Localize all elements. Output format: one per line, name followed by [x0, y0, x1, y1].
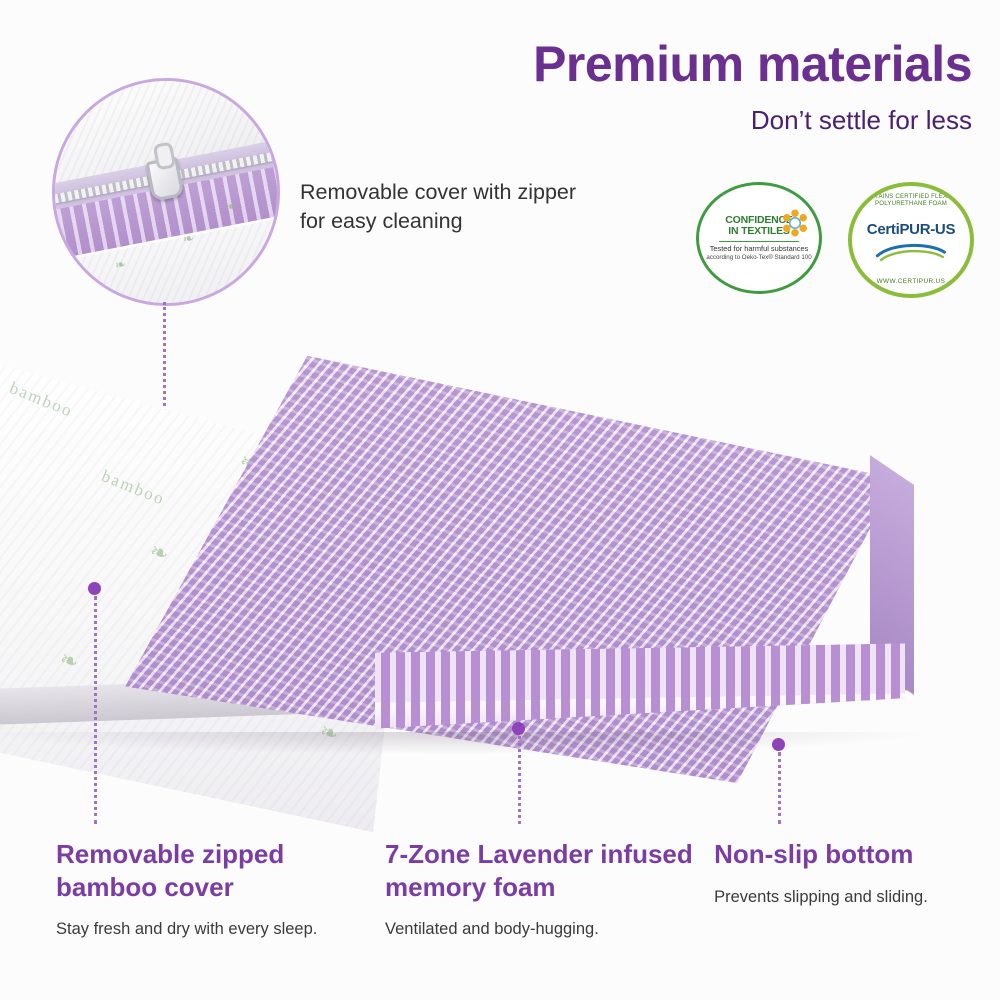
mattress-topper: bamboo bamboo bamboo bamboo ❧ ❧ ❧ ❧: [0, 330, 930, 760]
feature-item-cover: Removable zipped bamboo cover Stay fresh…: [56, 838, 385, 940]
page-subtitle: Don’t settle for less: [332, 105, 972, 136]
feature-title: 7-Zone Lavender infused memory foam: [385, 838, 714, 903]
feature-list: Removable zipped bamboo cover Stay fresh…: [56, 838, 956, 940]
feature-description: Prevents slipping and sliding.: [714, 887, 956, 908]
divider: [719, 241, 799, 242]
certification-badges: CONFIDENCE IN TEXTILES Tested for harmfu…: [696, 182, 974, 298]
certipur-name: CertiPUR-US: [867, 221, 955, 238]
leader-line-cover: [94, 596, 97, 824]
oeko-subtitle: Tested for harmful substances: [710, 245, 809, 254]
oeko-tex-badge: CONFIDENCE IN TEXTILES Tested for harmfu…: [696, 182, 822, 294]
certipur-badge: CONTAINS CERTIFIED FLEXIBLE POLYURETHANE…: [848, 182, 974, 298]
certipur-arc-bottom: WWW.CERTIPUR.US: [852, 278, 970, 285]
feature-item-bottom: Non-slip bottom Prevents slipping and sl…: [714, 838, 956, 940]
feature-title: Non-slip bottom: [714, 838, 956, 871]
zipper-caption: Removable cover with zipper for easy cle…: [300, 178, 580, 236]
swoosh-icon: [875, 240, 947, 262]
callout-dot-bottom: [772, 738, 785, 751]
feature-description: Ventilated and body-hugging.: [385, 919, 714, 940]
feature-description: Stay fresh and dry with every sleep.: [56, 919, 385, 940]
callout-dot-foam: [512, 722, 525, 735]
product-image: bamboo bamboo bamboo bamboo ❧ ❧ ❧ ❧: [0, 330, 930, 760]
page-title: Premium materials: [332, 38, 972, 91]
oeko-standard: according to Oeko-Tex® Standard 100: [706, 254, 811, 261]
feature-item-foam: 7-Zone Lavender infused memory foam Vent…: [385, 838, 714, 940]
callout-dot-cover: [88, 582, 101, 595]
headline-block: Premium materials Don’t settle for less: [332, 38, 972, 136]
certipur-arc-top: CONTAINS CERTIFIED FLEXIBLE POLYURETHANE…: [852, 193, 970, 207]
flower-icon: [780, 208, 810, 238]
promo-banner: Premium materials Don’t settle for less …: [0, 0, 1000, 1000]
feature-title: Removable zipped bamboo cover: [56, 838, 385, 903]
bamboo-leaf-icon: ❧: [182, 230, 196, 248]
zipper-closeup-image: ❧ ❧ ❧: [52, 78, 280, 306]
leader-line-foam: [518, 736, 521, 824]
leader-line-bottom: [778, 752, 781, 824]
